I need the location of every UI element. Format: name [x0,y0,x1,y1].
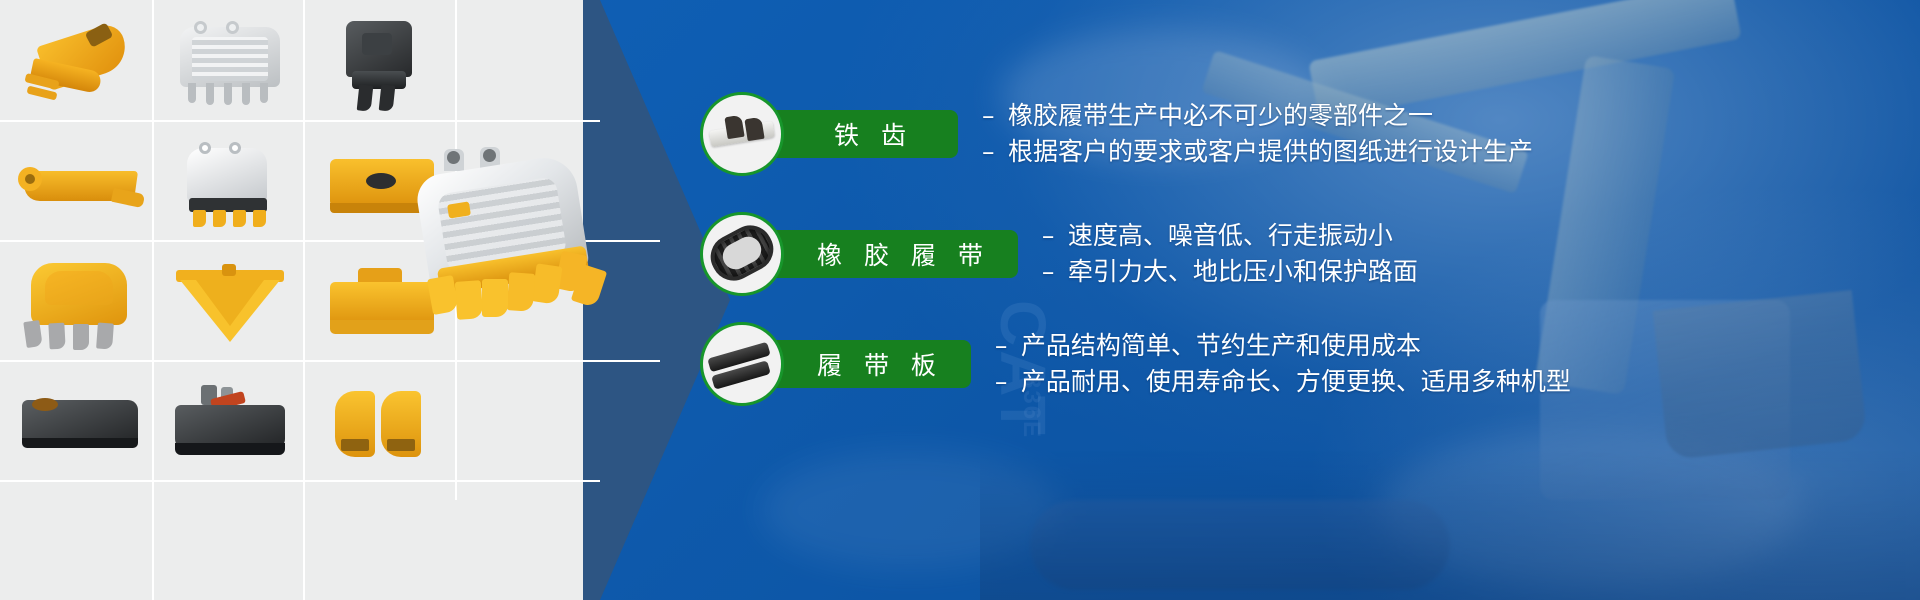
product-skeleton-bucket [160,10,300,120]
feature-desc-iron-teeth: – 橡胶履带生产中必不可少的零部件之一 – 根据客户的要求或客户提供的图纸进行设… [982,98,1533,170]
desc-line: – 橡胶履带生产中必不可少的零部件之一 [982,98,1533,134]
product-hydraulic-breaker [312,10,452,120]
desc-line: – 根据客户的要求或客户提供的图纸进行设计生产 [982,134,1533,170]
bullet-dash: – [1042,218,1068,254]
desc-line: – 牵引力大、地比压小和保护路面 [1042,254,1418,290]
bullet-dash: – [982,98,1008,134]
feature-desc-rubber-track: – 速度高、噪音低、行走振动小 – 牵引力大、地比压小和保护路面 [1042,218,1418,290]
product-v-shaped-bucket [160,252,300,358]
desc-line: – 产品耐用、使用寿命长、方便更换、适用多种机型 [995,364,1571,400]
feature-row-rubber-track[interactable]: 橡 胶 履 带 – 速度高、噪音低、行走振动小 – 牵引力大、地比压小和保护路面 [700,212,1418,296]
product-hydraulic-clamshell [160,372,300,478]
feature-label: 履 带 板 [810,346,943,382]
bullet-dash: – [982,134,1008,170]
track-shoe-icon [700,322,784,406]
bullet-dash: – [1042,254,1068,290]
feature-pill-iron-teeth[interactable]: 铁 齿 [758,110,958,158]
product-clean-up-bucket [6,372,154,478]
desc-text: 橡胶履带生产中必不可少的零部件之一 [1008,98,1433,134]
desc-line: – 产品结构简单、节约生产和使用成本 [995,328,1571,364]
feature-label: 橡 胶 履 带 [810,236,990,272]
bullet-dash: – [995,364,1021,400]
product-heavy-duty-bucket [400,140,630,340]
desc-text: 产品耐用、使用寿命长、方便更换、适用多种机型 [1021,364,1571,400]
product-thumb-attachment [312,372,452,478]
desc-line: – 速度高、噪音低、行走振动小 [1042,218,1418,254]
desc-text: 根据客户的要求或客户提供的图纸进行设计生产 [1008,134,1533,170]
feature-desc-track-shoe: – 产品结构简单、节约生产和使用成本 – 产品耐用、使用寿命长、方便更换、适用多… [995,328,1571,400]
desc-text: 产品结构简单、节约生产和使用成本 [1021,328,1421,364]
feature-pill-track-shoe[interactable]: 履 带 板 [758,340,971,388]
grid-line-h1 [0,120,600,122]
feature-row-iron-teeth[interactable]: 铁 齿 – 橡胶履带生产中必不可少的零部件之一 – 根据客户的要求或客户提供的图… [700,92,1533,176]
grid-line-h3 [0,360,660,362]
feature-label: 铁 齿 [827,116,913,152]
product-tilt-bucket-white [160,132,300,238]
grid-line-v2 [303,0,305,600]
grid-line-h4 [0,480,600,482]
desc-text: 速度高、噪音低、行走振动小 [1068,218,1393,254]
desc-text: 牵引力大、地比压小和保护路面 [1068,254,1418,290]
product-ripper-bucket [10,10,150,120]
feature-row-track-shoe[interactable]: 履 带 板 – 产品结构简单、节约生产和使用成本 – 产品耐用、使用寿命长、方便… [700,322,1571,406]
promo-banner: CAT 336E [0,0,1920,600]
bullet-dash: – [995,328,1021,364]
iron-teeth-icon [700,92,784,176]
product-excavator-arm [6,132,154,238]
feature-pill-rubber-track[interactable]: 橡 胶 履 带 [758,230,1018,278]
product-rock-bucket-large [6,252,154,358]
rubber-track-icon [700,212,784,296]
feature-list: 铁 齿 – 橡胶履带生产中必不可少的零部件之一 – 根据客户的要求或客户提供的图… [690,0,1920,600]
